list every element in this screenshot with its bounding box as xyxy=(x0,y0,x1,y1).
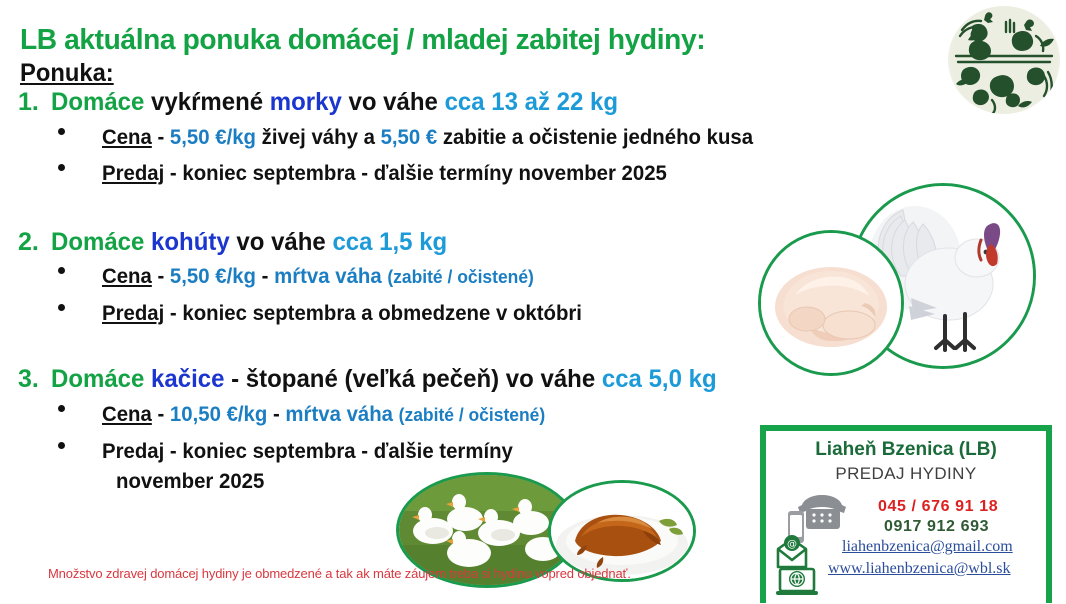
website-link[interactable]: www.liahenbzenica@wbl.sk xyxy=(828,560,1011,578)
bullet-dot-icon xyxy=(58,128,65,135)
bullet-dot-icon xyxy=(58,442,65,449)
offer-bullet: Predaj - koniec septembra - ďalšie termí… xyxy=(58,162,684,186)
offer-item-number: 1. xyxy=(18,88,39,117)
bullet-text: Cena - 10,50 €/kg - mŕtva váha (zabité /… xyxy=(102,403,545,427)
bullet-label: Predaj xyxy=(102,162,164,185)
offer-bullet: Predaj - koniec septembra a obmedzene v … xyxy=(58,302,597,326)
offer-bullet: Cena - 5,50 €/kg - mŕtva váha (zabité / … xyxy=(58,265,547,289)
phone-landline: 045 / 676 91 18 xyxy=(878,498,998,516)
bullet-text: Predaj - koniec septembra a obmedzene v … xyxy=(102,302,582,326)
offer-subtitle: Ponuka: xyxy=(20,59,114,88)
offer-item-number: 3. xyxy=(18,365,39,394)
company-name: Liaheň Bzenica (LB) xyxy=(766,439,1046,461)
plucked-chicken-photo xyxy=(758,230,904,376)
bullet-dot-icon xyxy=(58,405,65,412)
offer-item-2: 2.Domáce kohúty vo váhe cca 1,5 kg xyxy=(18,228,464,257)
phone-mobile: 0917 912 693 xyxy=(884,518,989,536)
bullet-dot-icon xyxy=(58,304,65,311)
bullet-label: Predaj xyxy=(102,440,164,463)
offer-bullet: Cena - 10,50 €/kg - mŕtva váha (zabité /… xyxy=(58,403,559,427)
offer-bullet: Cena - 5,50 €/kg živej váhy a 5,50 € zab… xyxy=(58,126,773,150)
offer-item-headline: Domáce vykŕmené morky vo váhe cca 13 až … xyxy=(51,88,618,117)
contact-box: Liaheň Bzenica (LB) PREDAJ HYDINY xyxy=(760,425,1052,603)
bullet-label: Cena xyxy=(102,126,152,149)
bullet-text: Predaj - koniec septembra - ďalšie termí… xyxy=(102,440,513,464)
company-subtitle: PREDAJ HYDINY xyxy=(766,464,1046,484)
poster-page: LB aktuálna ponuka domácej / mladej zabi… xyxy=(0,0,1066,600)
bullet-text: Predaj - koniec septembra - ďalšie termí… xyxy=(102,162,667,186)
poultry-folk-art-logo xyxy=(948,6,1060,114)
availability-note: Množstvo zdravej domácej hydiny je obmed… xyxy=(48,566,631,581)
bullet-text: Cena - 5,50 €/kg - mŕtva váha (zabité / … xyxy=(102,265,534,289)
desk-phone-icon xyxy=(798,495,846,529)
bullet-dot-icon xyxy=(58,267,65,274)
offer-item-number: 2. xyxy=(18,228,39,257)
offer-item-1: 1.Domáce vykŕmené morky vo váhe cca 13 a… xyxy=(18,88,642,117)
offer-bullet: november 2025 xyxy=(58,470,269,494)
offer-item-headline: Domáce kohúty vo váhe cca 1,5 kg xyxy=(51,228,447,257)
bullet-dot-icon xyxy=(58,164,65,171)
bullet-label: Cena xyxy=(102,403,152,426)
email-link[interactable]: liahenbzenica@gmail.com xyxy=(842,538,1013,556)
bullet-text: Cena - 5,50 €/kg živej váhy a 5,50 € zab… xyxy=(102,126,753,150)
bullet-text: november 2025 xyxy=(116,470,264,494)
offer-item-headline: Domáce kačice - štopané (veľká pečeň) vo… xyxy=(51,365,717,394)
page-title: LB aktuálna ponuka domácej / mladej zabi… xyxy=(20,24,705,57)
bullet-label: Predaj xyxy=(102,302,164,325)
offer-bullet: Predaj - koniec septembra - ďalšie termí… xyxy=(58,440,526,464)
bullet-label: Cena xyxy=(102,265,152,288)
offer-item-3: 3.Domáce kačice - štopané (veľká pečeň) … xyxy=(18,365,744,394)
svg-text:@: @ xyxy=(787,539,797,550)
laptop-globe-icon xyxy=(776,569,818,595)
